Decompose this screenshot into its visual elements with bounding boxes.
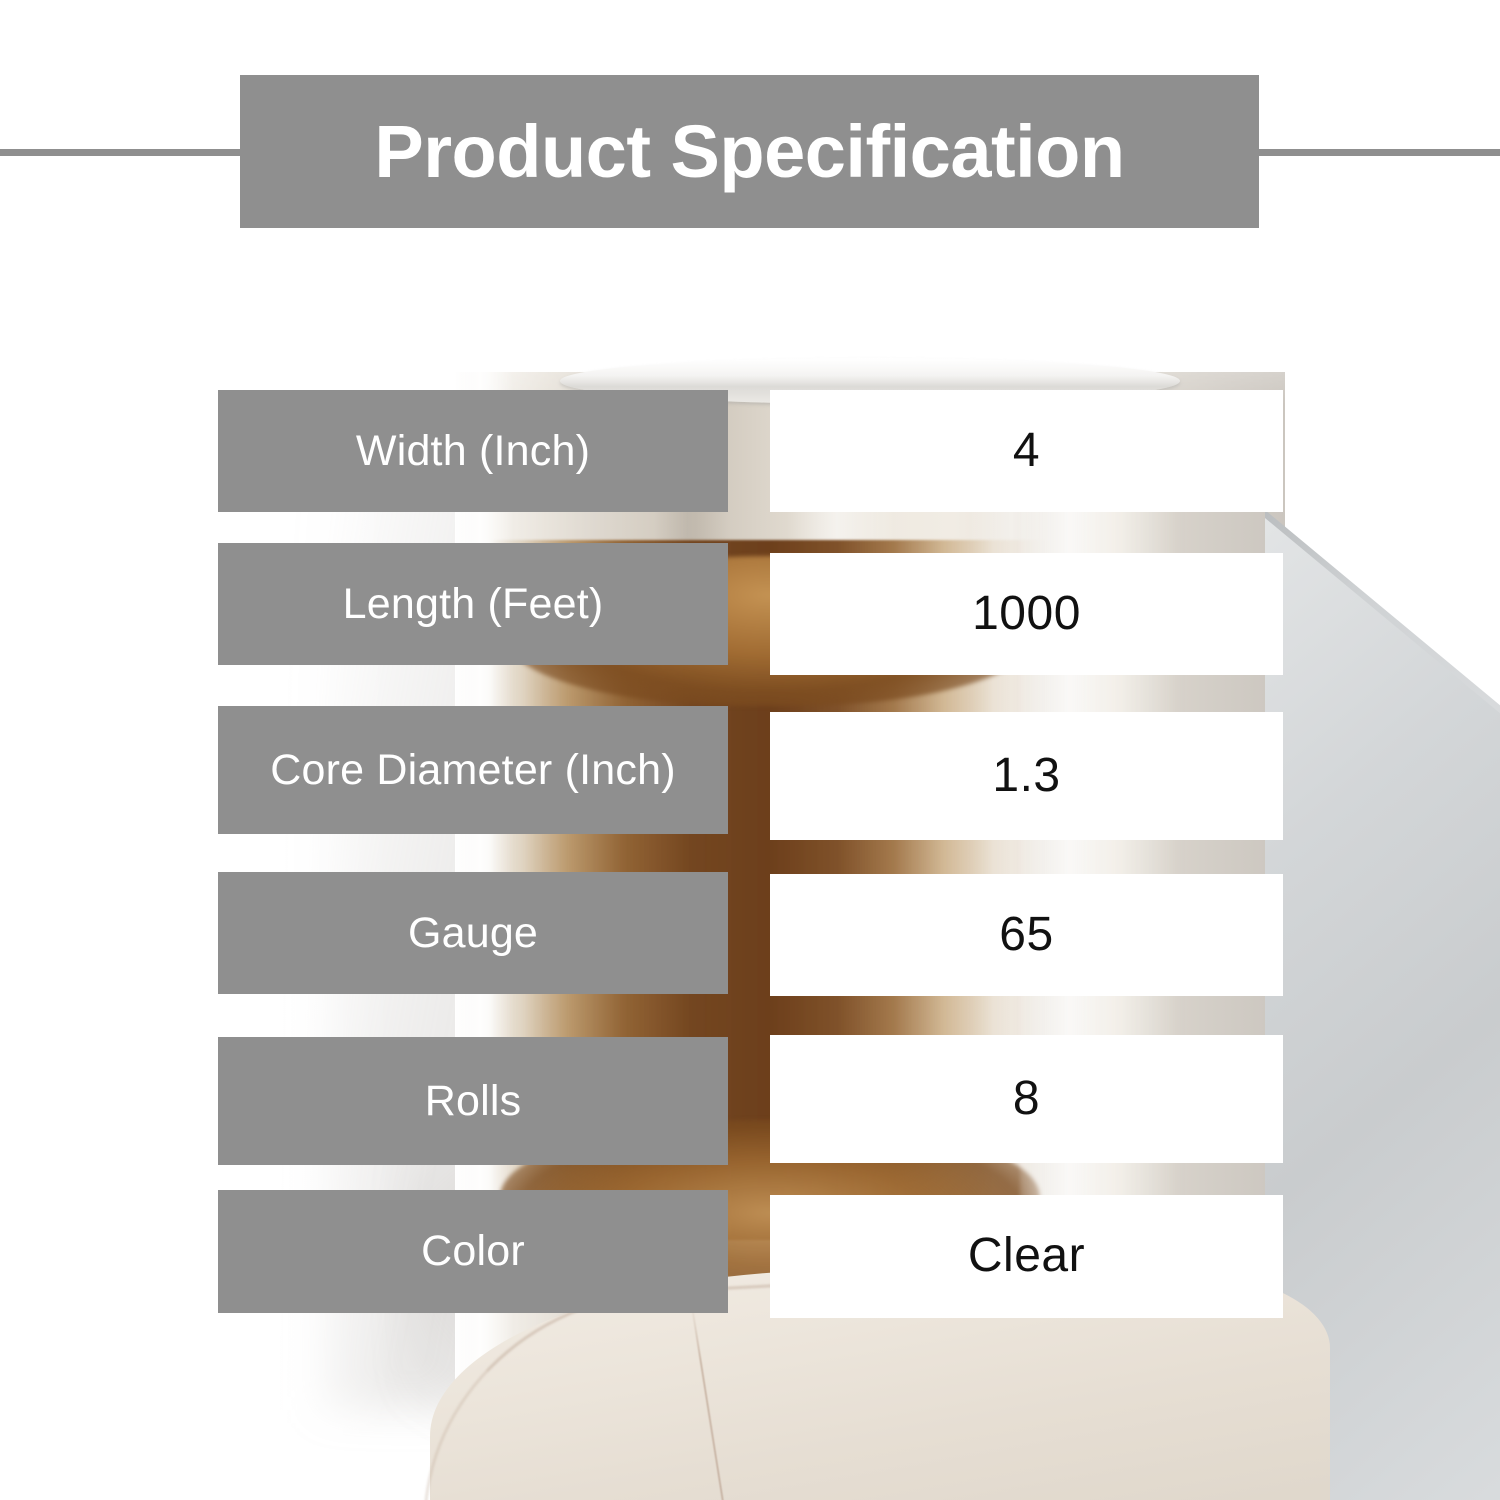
spec-value-rolls: 8 (770, 1035, 1283, 1163)
spec-value-core-diameter: 1.3 (770, 712, 1283, 840)
spec-label-length: Length (Feet) (218, 543, 728, 665)
spec-table: Width (Inch) 4 Length (Feet) 1000 Core D… (0, 0, 1500, 1500)
spec-value-gauge: 65 (770, 874, 1283, 996)
spec-value-length: 1000 (770, 553, 1283, 675)
spec-value-width: 4 (770, 390, 1283, 512)
spec-label-gauge: Gauge (218, 872, 728, 994)
spec-label-color: Color (218, 1190, 728, 1313)
spec-label-rolls: Rolls (218, 1037, 728, 1165)
spec-label-core-diameter: Core Diameter (Inch) (218, 706, 728, 834)
infographic-page: Product Specification Width (Inch) 4 Len… (0, 0, 1500, 1500)
spec-value-color: Clear (770, 1195, 1283, 1318)
spec-label-width: Width (Inch) (218, 390, 728, 512)
